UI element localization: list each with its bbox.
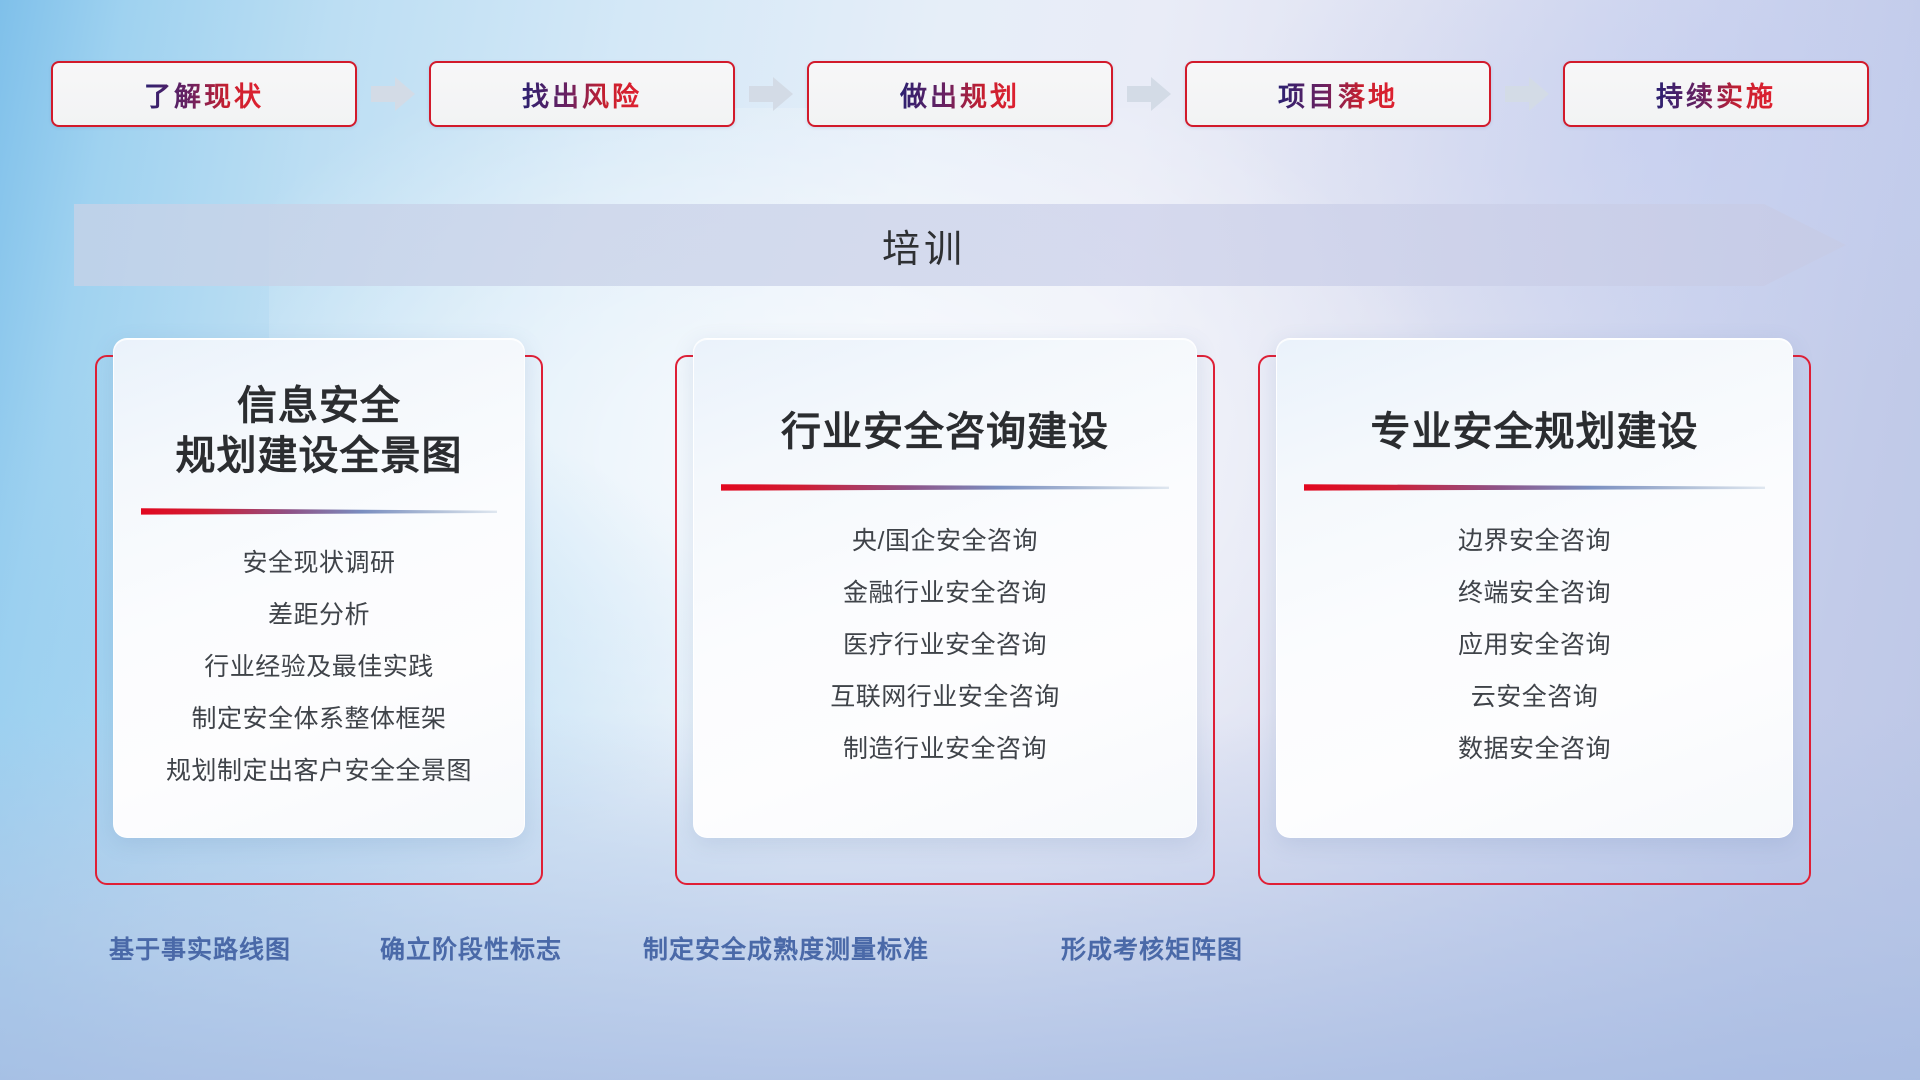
list-item: 央/国企安全咨询 xyxy=(852,529,1038,554)
list-item: 数据安全咨询 xyxy=(1458,737,1611,762)
card-1-panel[interactable]: 信息安全 规划建设全景图 xyxy=(113,338,525,838)
list-item: 安全现状调研 xyxy=(242,551,395,576)
footer-label-2: 确立阶段性标志 xyxy=(380,930,562,966)
card-3: 专业安全规划建设 xyxy=(1258,0,1811,1080)
list-item: 云安全咨询 xyxy=(1471,685,1599,710)
card-3-title: 专业安全规划建设 xyxy=(1277,407,1792,457)
list-item: 规划制定出客户安全全景图 xyxy=(166,759,472,784)
card-3-list: 边界安全咨询 终端安全咨询 应用安全咨询 云安全咨询 数据安全咨询 xyxy=(1277,529,1792,762)
list-item: 医疗行业安全咨询 xyxy=(843,633,1047,658)
list-item: 边界安全咨询 xyxy=(1458,529,1611,554)
card-1-list: 安全现状调研 差距分析 行业经验及最佳实践 制定安全体系整体框架 规划制定出客户… xyxy=(114,551,524,784)
list-item: 制定安全体系整体框架 xyxy=(191,707,446,732)
card-2: 行业安全咨询建设 xyxy=(675,0,1215,1080)
footer-label-4: 形成考核矩阵图 xyxy=(1061,930,1243,966)
card-2-panel[interactable]: 行业安全咨询建设 xyxy=(693,338,1197,838)
footer-label-row: 基于事实路线图 确立阶段性标志 制定安全成熟度测量标准 形成考核矩阵图 xyxy=(0,930,1920,970)
card-group: 信息安全 规划建设全景图 xyxy=(0,0,1920,1080)
card-3-panel[interactable]: 专业安全规划建设 xyxy=(1276,338,1793,838)
list-item: 互联网行业安全咨询 xyxy=(830,685,1060,710)
card-1: 信息安全 规划建设全景图 xyxy=(95,0,543,1080)
card-2-title: 行业安全咨询建设 xyxy=(694,407,1196,457)
list-item: 差距分析 xyxy=(268,603,370,628)
card-1-title: 信息安全 规划建设全景图 xyxy=(114,381,524,481)
card-2-list: 央/国企安全咨询 金融行业安全咨询 医疗行业安全咨询 互联网行业安全咨询 制造行… xyxy=(694,529,1196,762)
list-item: 应用安全咨询 xyxy=(1458,633,1611,658)
card-3-divider xyxy=(1304,483,1765,493)
list-item: 制造行业安全咨询 xyxy=(843,737,1047,762)
card-2-divider xyxy=(721,483,1169,493)
list-item: 金融行业安全咨询 xyxy=(843,581,1047,606)
footer-label-1: 基于事实路线图 xyxy=(109,930,291,966)
footer-label-3: 制定安全成熟度测量标准 xyxy=(643,930,929,966)
card-1-divider xyxy=(141,507,497,517)
list-item: 终端安全咨询 xyxy=(1458,581,1611,606)
list-item: 行业经验及最佳实践 xyxy=(204,655,434,680)
